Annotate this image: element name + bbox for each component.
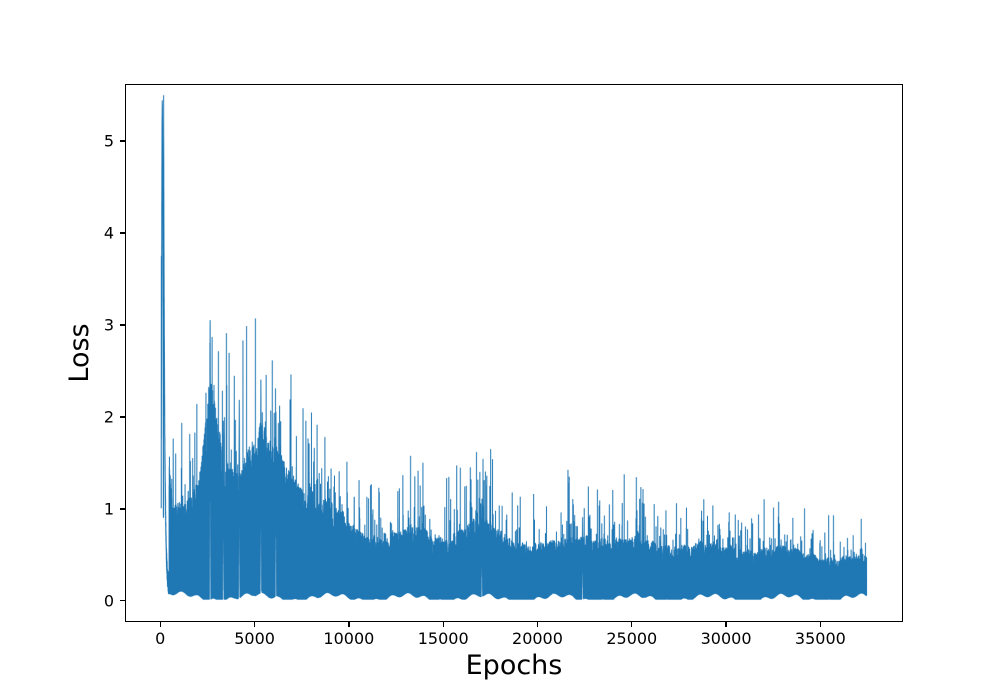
x-tick-mark [443,622,444,627]
y-tick-label: 2 [104,407,114,426]
figure-canvas: 05000100001500020000250003000035000 0123… [0,0,1000,700]
x-tick-label: 35000 [795,629,846,648]
x-tick-mark [160,622,161,627]
x-tick-mark [537,622,538,627]
x-tick-mark [254,622,255,627]
y-tick-mark [120,140,125,141]
y-axis-label: Loss [60,84,100,622]
x-tick-mark [348,622,349,627]
y-tick-mark [120,324,125,325]
x-axis-label: Epochs [125,650,903,681]
y-tick-label: 4 [104,223,114,242]
x-tick-mark [725,622,726,627]
plot-axes [125,84,903,622]
loss-curve-plot [126,85,902,621]
x-tick-label: 25000 [606,629,657,648]
x-tick-label: 10000 [323,629,374,648]
x-tick-label: 20000 [512,629,563,648]
y-tick-mark [120,508,125,509]
y-tick-label: 0 [104,591,114,610]
y-tick-label: 1 [104,499,114,518]
x-tick-label: 5000 [234,629,275,648]
x-tick-label: 15000 [418,629,469,648]
y-tick-mark [120,416,125,417]
y-tick-label: 3 [104,315,114,334]
x-tick-mark [820,622,821,627]
y-tick-label: 5 [104,132,114,151]
x-tick-mark [631,622,632,627]
y-tick-mark [120,600,125,601]
y-tick-mark [120,232,125,233]
x-tick-label: 30000 [701,629,752,648]
x-tick-label: 0 [155,629,165,648]
